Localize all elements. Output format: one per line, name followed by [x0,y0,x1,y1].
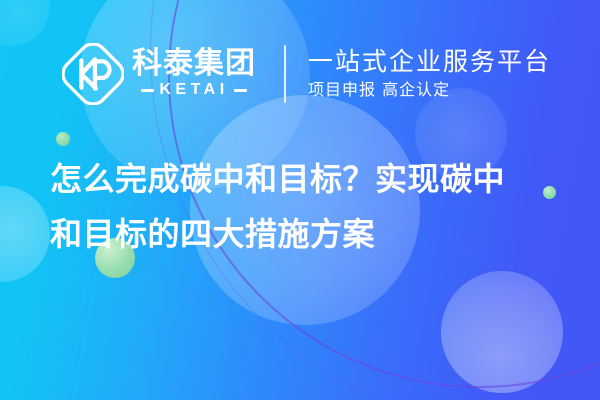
brand-slogan: 一站式企业服务平台 项目申报 高企认定 [308,47,551,102]
headline: 怎么完成碳中和目标？实现碳中 和目标的四大措施方案 [50,152,565,262]
decor-circle-left-edge [0,186,50,282]
slogan-primary: 一站式企业服务平台 [308,47,551,77]
brand-rule-right [234,89,247,92]
slogan-secondary: 项目申报 高企认定 [308,79,551,101]
header-divider [284,45,286,103]
headline-line-2: 和目标的四大措施方案 [50,207,565,262]
decor-circle-lower-right [441,271,563,393]
banner-header: 科泰集团 KETAI 一站式企业服务平台 项目申报 高企认定 [62,36,551,112]
promo-banner: 科泰集团 KETAI 一站式企业服务平台 项目申报 高企认定 怎么完成碳中和目标… [0,0,600,400]
decor-dot-green-small [56,132,70,146]
ketai-kp-monogram-icon [62,43,124,105]
brand-name-cn: 科泰集团 [132,49,256,80]
brand-logo[interactable]: 科泰集团 KETAI [62,43,256,105]
brand-name-en-row: KETAI [132,81,256,99]
headline-line-1: 怎么完成碳中和目标？实现碳中 [50,152,565,207]
decor-circle-top-left [0,0,50,46]
brand-rule-left [141,89,154,92]
brand-wordmark: 科泰集团 KETAI [132,49,256,100]
brand-name-en: KETAI [159,81,228,99]
